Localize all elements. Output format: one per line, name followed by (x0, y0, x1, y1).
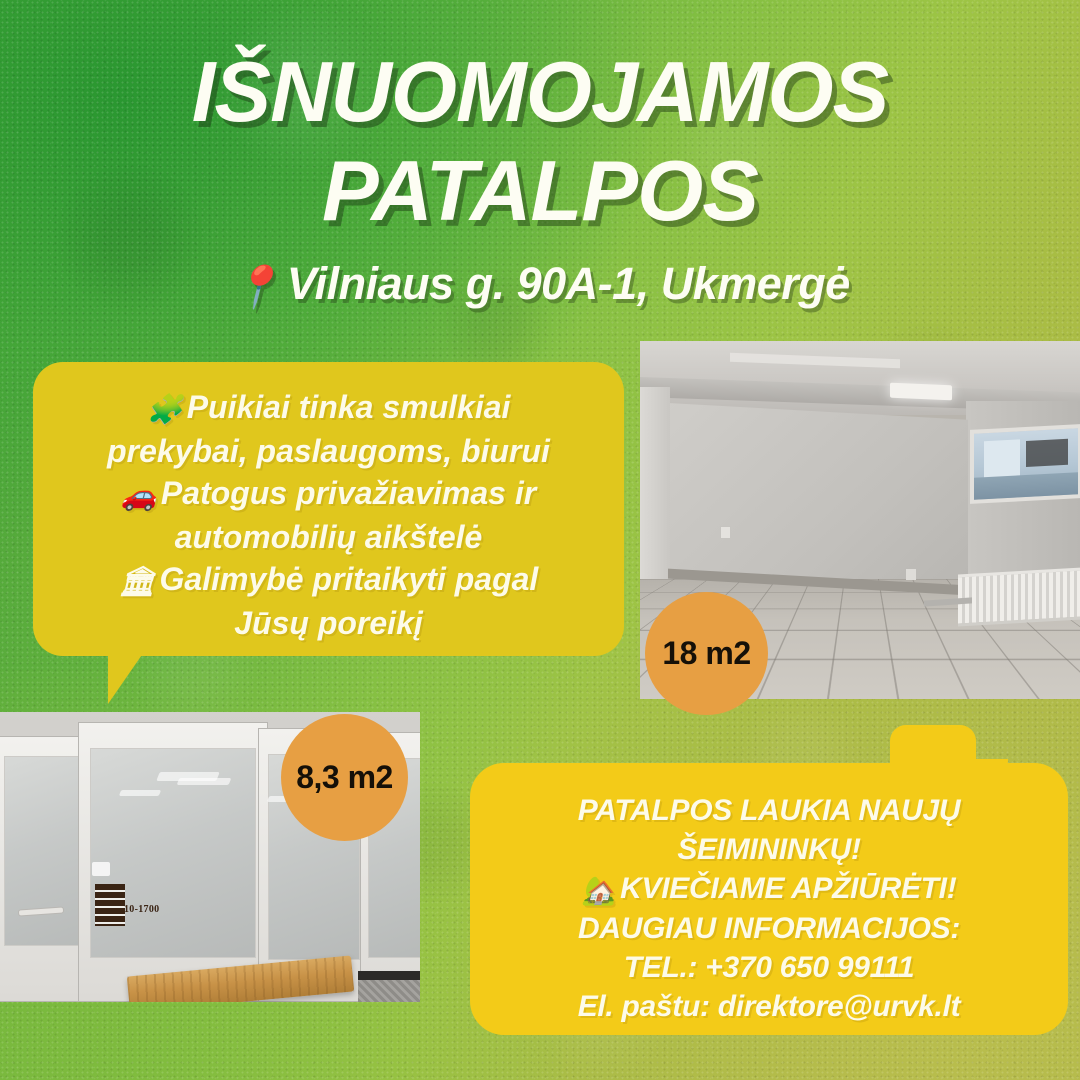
glass-sticker (92, 862, 110, 876)
building-icon: 🏛 (119, 566, 156, 598)
feature-line-4: automobilių aikštelė (59, 516, 598, 559)
area-badge-83-label: 8,3 m2 (296, 759, 393, 796)
car-icon: 🚗 (121, 480, 157, 512)
location-pin-icon: 📍 (230, 264, 281, 310)
area-badge-83: 8,3 m2 (281, 714, 408, 841)
feature-line-3-text: Patogus privažiavimas ir (161, 475, 536, 511)
feature-line-1-text: Puikiai tinka smulkiai (187, 389, 511, 425)
area-badge-18: 18 m2 (645, 592, 768, 715)
feature-line-5-text: Galimybė pritaikyti pagal (160, 561, 539, 597)
contact-line-4: DAUGIAU INFORMACIJOS: (494, 909, 1044, 948)
address-text: Vilniaus g. 90A-1, Ukmergė (287, 258, 850, 309)
feature-line-2: prekybai, paslaugoms, biurui (59, 430, 598, 473)
contact-speech-bubble: PATALPOS LAUKIA NAUJŲ ŠEIMININKŲ! 🏡KVIEČ… (470, 763, 1068, 1035)
room-radiator (958, 568, 1080, 627)
contact-phone[interactable]: TEL.: +370 650 99111 (494, 948, 1044, 987)
door-sign-barcode (95, 884, 125, 926)
poster-canvas: IŠNUOMOJAMOS PATALPOS 📍Vilniaus g. 90A-1… (0, 0, 1080, 1080)
feature-line-5: 🏛Galimybė pritaikyti pagal (59, 558, 598, 602)
room-window (970, 424, 1080, 504)
contact-line-1: PATALPOS LAUKIA NAUJŲ (494, 791, 1044, 830)
contact-email[interactable]: El. paštu: direktore@urvk.lt (494, 987, 1044, 1026)
feature-line-1: 🧩Puikiai tinka smulkiai (59, 386, 598, 430)
page-title: IŠNUOMOJAMOS PATALPOS (0, 50, 1080, 234)
headline-line-1: IŠNUOMOJAMOS (0, 50, 1080, 135)
contact-line-3: 🏡KVIEČIAME APŽIŪRĖTI! (494, 869, 1044, 909)
features-bubble-text: 🧩Puikiai tinka smulkiai prekybai, paslau… (33, 362, 624, 644)
headline-line-2: PATALPOS (0, 149, 1080, 234)
contact-bubble-text: PATALPOS LAUKIA NAUJŲ ŠEIMININKŲ! 🏡KVIEČ… (470, 763, 1068, 1026)
glass-reflection-2 (119, 790, 161, 796)
room-ceiling-light (890, 383, 952, 401)
window-sill (974, 472, 1078, 499)
entrance-floor-mat (358, 980, 420, 1002)
house-icon: 🏡 (582, 875, 617, 906)
glass-reflection-3 (177, 778, 232, 785)
room-wall-outlet (720, 526, 731, 539)
area-badge-18-label: 18 m2 (662, 635, 750, 672)
address-line: 📍Vilniaus g. 90A-1, Ukmergė (0, 258, 1080, 312)
room-wall-outlet-secondary (906, 569, 916, 580)
puzzle-piece-icon: 🧩 (147, 394, 183, 426)
contact-line-3-text: KVIEČIAME APŽIŪRĖTI! (620, 872, 956, 905)
feature-line-3: 🚗Patogus privažiavimas ir (59, 472, 598, 516)
feature-line-6: Jūsų poreikį (59, 602, 598, 645)
door-sign-text: 10-1700 (124, 904, 159, 915)
features-speech-bubble: 🧩Puikiai tinka smulkiai prekybai, paslau… (33, 362, 624, 656)
window-pane-right (1026, 439, 1068, 467)
entrance-floor-strip (358, 971, 420, 980)
contact-line-2: ŠEIMININKŲ! (494, 830, 1044, 869)
